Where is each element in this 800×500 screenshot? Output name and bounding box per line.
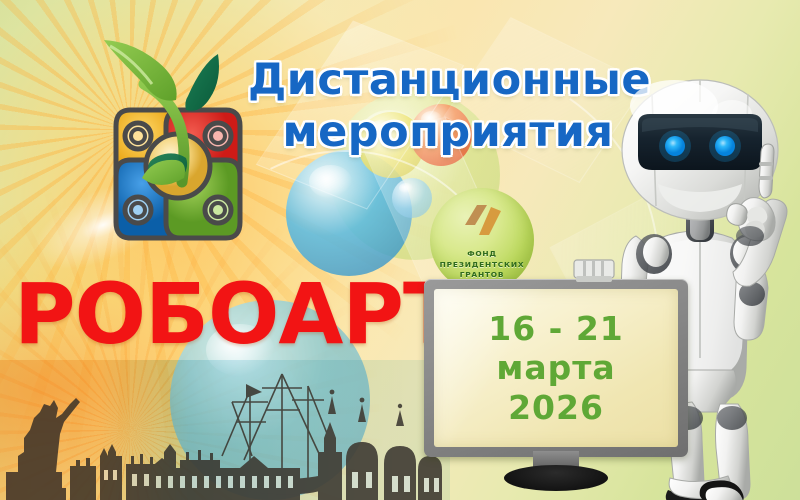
monitor-bezel: 16 - 21 марта 2026 xyxy=(424,279,688,457)
monitor-screen: 16 - 21 марта 2026 xyxy=(434,289,678,447)
sphere-blue xyxy=(286,150,412,276)
headline-line-1: Дистанционные xyxy=(248,55,651,105)
grants-fund-line-1: ФОНД xyxy=(467,249,497,260)
event-date-line-1: 16 - 21 xyxy=(488,309,624,349)
robot-gripper-icon xyxy=(572,258,616,284)
chain-sprout-logo xyxy=(88,32,268,257)
poster-canvas: Дистанционные мероприятия РОБОАРТ ФОНД П… xyxy=(0,0,800,500)
sphere-small-blue xyxy=(392,178,432,218)
headline-line-2: мероприятия xyxy=(248,106,648,158)
city-skyline-sketch xyxy=(0,360,450,500)
presidential-grants-fund-badge: ФОНД ПРЕЗИДЕНТСКИХ ГРАНТОВ xyxy=(430,188,534,292)
page-title: Дистанционные мероприятия xyxy=(248,54,648,159)
event-date-line-2: марта xyxy=(496,348,615,388)
monitor-stand-base xyxy=(504,465,608,491)
event-title: РОБОАРТ xyxy=(14,272,459,356)
event-date-line-3: 2026 xyxy=(508,388,604,428)
display-monitor: 16 - 21 марта 2026 xyxy=(424,279,688,464)
grants-fund-line-2: ПРЕЗИДЕНТСКИХ xyxy=(440,260,525,271)
grants-fund-mark-icon xyxy=(461,203,503,237)
